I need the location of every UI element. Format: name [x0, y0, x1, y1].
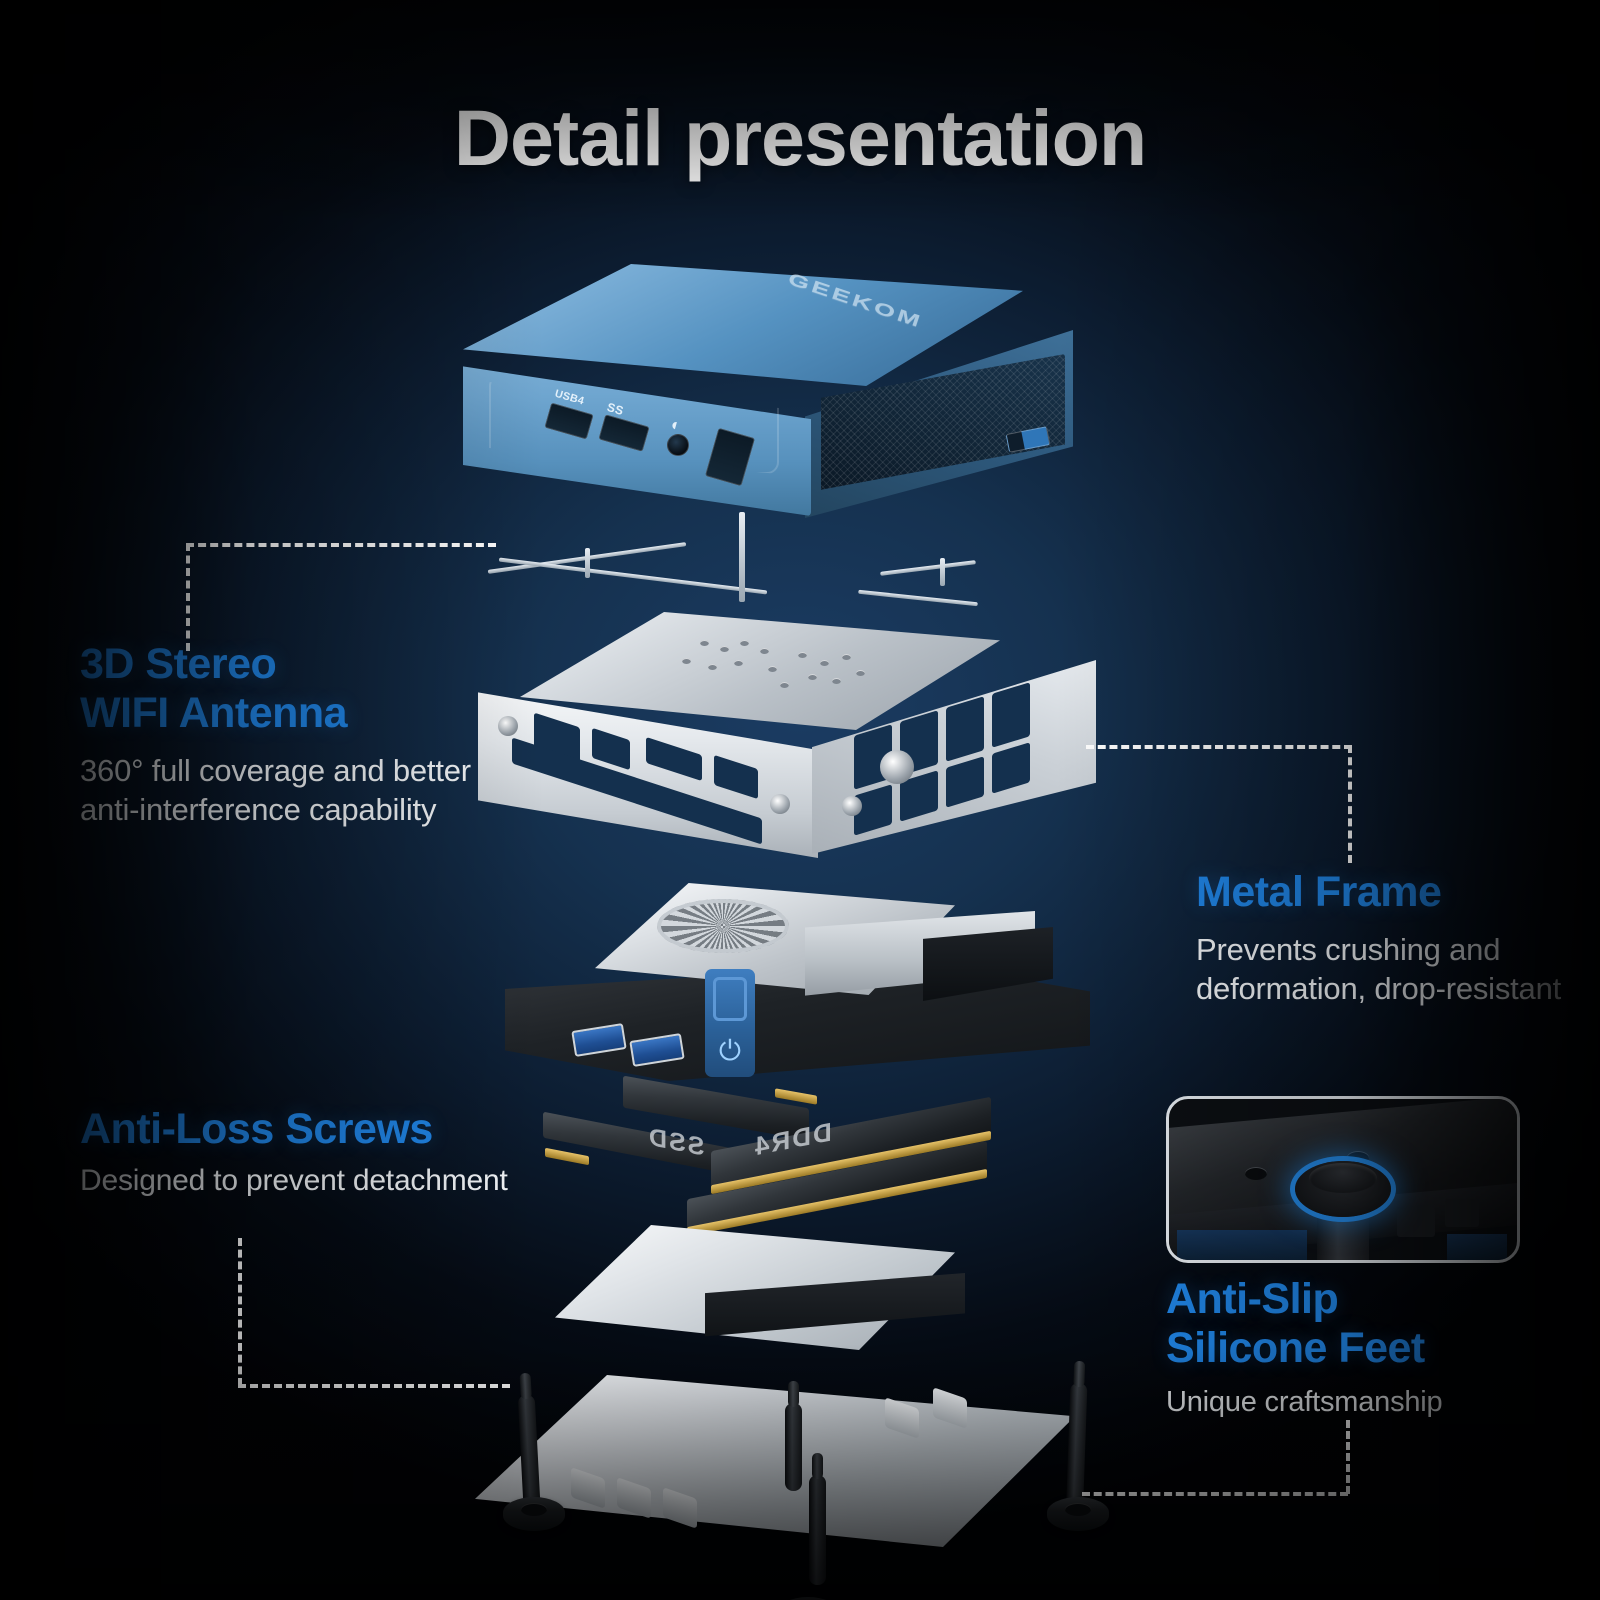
cooling-fan [657, 899, 789, 953]
perforation [720, 646, 729, 652]
perforation [740, 640, 749, 646]
mainboard-and-cooler-layer: ⏻ [505, 875, 1100, 1090]
perforation [768, 666, 777, 672]
silicone-foot [503, 1497, 565, 1531]
inset-background-strip [1447, 1234, 1507, 1260]
anti-loss-screw [809, 1475, 826, 1585]
leader-line-frame-horizontal [1086, 745, 1352, 749]
inset-screw-hole [1245, 1167, 1267, 1180]
wifi-antenna-wire-right-lower [858, 590, 978, 607]
bracket-slot [713, 977, 747, 1021]
page-title: Detail presentation [0, 92, 1600, 184]
callout-anti-loss-screws-heading: Anti-Loss Screws [80, 1105, 640, 1154]
frame-screw [498, 716, 518, 736]
inset-background-strip [1177, 1230, 1307, 1260]
callout-silicone-feet: Anti-Slip Silicone Feet Unique craftsman… [1166, 1275, 1566, 1421]
perforation [780, 682, 789, 688]
leader-line-feet-vertical [1346, 1420, 1350, 1494]
leader-line-frame-vertical [1348, 745, 1352, 863]
callout-anti-loss-screws-body: Designed to prevent detachment [80, 1162, 640, 1200]
mini-pc-chassis: GEEKOM USB4 SS ◖ [455, 262, 1080, 532]
power-icon: ⏻ [705, 1037, 755, 1065]
leader-line-antenna-horizontal [186, 543, 496, 547]
perforation [808, 674, 817, 680]
callout-antenna-heading-line1: 3D Stereo [80, 640, 276, 688]
wifi-antenna-feed-post [739, 512, 745, 602]
callout-antenna-heading-line2: WIFI Antenna [80, 689, 347, 737]
callout-silicone-feet-heading-line2: Silicone Feet [1166, 1324, 1425, 1372]
perforation [734, 660, 743, 666]
bottom-cover-plate [475, 1375, 1075, 1547]
perforation [832, 678, 841, 684]
anti-loss-screw [785, 1403, 802, 1491]
frame-screw [770, 794, 790, 814]
callout-antenna-body: 360° full coverage and better anti-inter… [80, 751, 500, 829]
perforation [682, 658, 691, 664]
perforation [798, 652, 807, 658]
bottom-plate-layer [455, 1225, 1115, 1570]
perforation [856, 670, 865, 676]
wifi-antenna-wire-right-post [940, 558, 945, 586]
perforation [820, 660, 829, 666]
callout-silicone-feet-body: Unique craftsmanship [1166, 1384, 1566, 1421]
perforation [760, 648, 769, 654]
wifi-antenna-wire-left-lower [499, 558, 767, 595]
metal-frame-layer [468, 612, 1100, 870]
leader-line-screws-horizontal [238, 1384, 510, 1388]
callout-metal-frame-body: Prevents crushing and deformation, drop-… [1196, 930, 1576, 1008]
callout-silicone-feet-heading: Anti-Slip Silicone Feet [1166, 1275, 1566, 1373]
perforation [708, 664, 717, 670]
callout-anti-loss-screws: Anti-Loss Screws Designed to prevent det… [80, 1105, 640, 1200]
leader-line-feet-horizontal [1082, 1492, 1348, 1496]
callout-metal-frame: Metal Frame Prevents crushing and deform… [1196, 868, 1576, 1008]
power-button-bracket[interactable]: ⏻ [705, 969, 755, 1077]
perforation [842, 654, 851, 660]
inset-notch [1445, 1199, 1479, 1227]
callout-metal-frame-heading: Metal Frame [1196, 868, 1576, 917]
callout-silicone-feet-heading-line1: Anti-Slip [1166, 1275, 1338, 1323]
wifi-antenna-wire-right [880, 560, 976, 576]
infographic-canvas: GEEKOM USB4 SS ◖ [0, 0, 1600, 1600]
headphone-jack[interactable] [667, 434, 689, 456]
silicone-foot-closeup-inset [1166, 1096, 1520, 1263]
inset-foot-top [1309, 1163, 1377, 1193]
leader-line-screws-vertical [238, 1238, 242, 1386]
silicone-foot [1047, 1497, 1109, 1531]
callout-antenna: 3D Stereo WIFI Antenna 360° full coverag… [80, 640, 500, 829]
frame-grommet [880, 750, 914, 784]
leader-line-antenna-vertical [186, 543, 190, 651]
wifi-antenna-wire-left-post [585, 548, 590, 578]
callout-antenna-heading: 3D Stereo WIFI Antenna [80, 640, 500, 738]
frame-screw [842, 796, 862, 816]
ssd-gold-contacts-upper [775, 1088, 817, 1104]
inset-notch [1397, 1207, 1435, 1237]
perforation [700, 640, 709, 646]
